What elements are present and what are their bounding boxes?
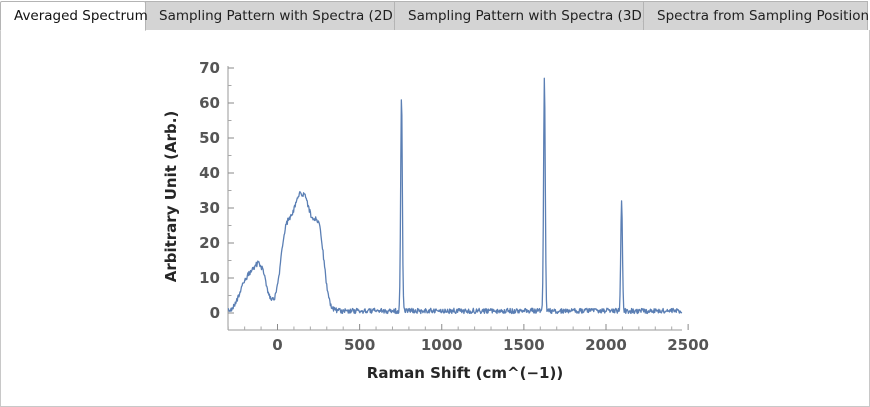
x-tick-label: 0 (272, 336, 282, 354)
y-tick-label: 50 (199, 129, 220, 147)
x-axis-title: Raman Shift (cm^(−1)) (367, 364, 563, 382)
y-tick-label: 40 (199, 164, 220, 182)
x-tick-label: 500 (344, 336, 375, 354)
y-tick-label: 0 (210, 304, 220, 322)
tab-label: Spectra from Sampling Position (657, 8, 869, 24)
raman-spectrum-viewer: Averaged Spectrum Sampling Pattern with … (0, 0, 870, 407)
tab-label: Sampling Pattern with Spectra (3D) (408, 8, 647, 24)
tab-label: Averaged Spectrum (14, 8, 148, 24)
x-tick-label: 1500 (503, 336, 545, 354)
y-axis-title: Arbitrary Unit (Arb.) (162, 111, 180, 283)
tab-bar: Averaged Spectrum Sampling Pattern with … (0, 0, 870, 31)
tab-content-panel: 01020304050607005001000150020002500Raman… (0, 30, 870, 407)
tab-spectra-from-sampling-position[interactable]: Spectra from Sampling Position (643, 1, 868, 31)
y-tick-label: 70 (199, 59, 220, 77)
spectrum-line (228, 78, 681, 313)
spectrum-figure: 01020304050607005001000150020002500Raman… (1, 30, 869, 405)
y-tick-label: 10 (199, 269, 220, 287)
tab-label: Sampling Pattern with Spectra (2D) (159, 8, 398, 24)
x-tick-label: 1000 (421, 336, 463, 354)
tab-sampling-pattern-3d[interactable]: Sampling Pattern with Spectra (3D) (394, 1, 644, 31)
spectrum-plot: 01020304050607005001000150020002500Raman… (1, 30, 869, 405)
tab-sampling-pattern-2d[interactable]: Sampling Pattern with Spectra (2D) (145, 1, 395, 31)
x-tick-label: 2500 (667, 336, 709, 354)
tab-averaged-spectrum[interactable]: Averaged Spectrum (0, 1, 146, 31)
y-tick-label: 20 (199, 234, 220, 252)
y-tick-label: 30 (199, 199, 220, 217)
y-tick-label: 60 (199, 94, 220, 112)
x-tick-label: 2000 (585, 336, 627, 354)
